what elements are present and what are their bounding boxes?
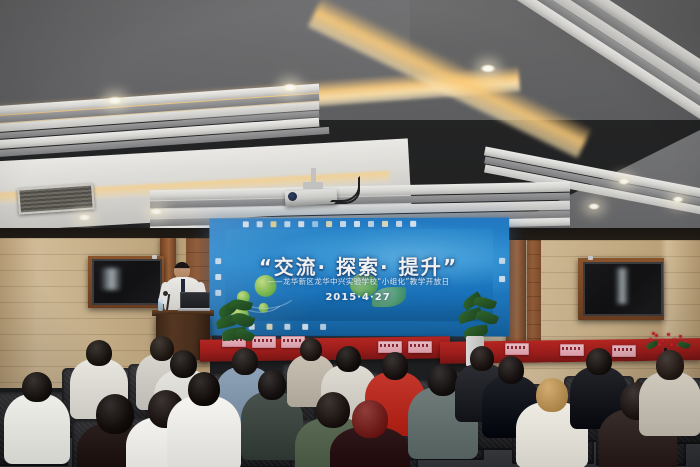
ceiling-downlight-4 (78, 214, 91, 221)
desktop-icon (382, 221, 388, 227)
right-tv-indicator-icon (588, 256, 593, 260)
desktop-icon (499, 276, 505, 282)
water-bottle (158, 298, 163, 311)
desktop-icon (284, 324, 290, 330)
audience-member-head (258, 370, 286, 400)
desktop-icon (215, 258, 221, 264)
audience-member-head (86, 340, 112, 366)
audience-member-torso (4, 394, 70, 464)
audience-member-head (96, 394, 134, 434)
audience-member-head (586, 348, 612, 375)
ceiling-downlight-5 (150, 208, 163, 215)
projector-mount-plate (303, 182, 323, 189)
audience-member-head (336, 346, 361, 372)
microphone-head-icon (163, 291, 168, 296)
flower (661, 339, 664, 342)
name-placard (408, 341, 432, 353)
desktop-icon (326, 221, 332, 227)
left-tv-glare (100, 268, 122, 290)
desktop-icon (368, 221, 374, 227)
flower-arrangement (646, 330, 690, 350)
desktop-icon (320, 324, 326, 330)
audience-member-head (170, 350, 197, 378)
audience-member-head (656, 350, 684, 380)
audience-member-head (428, 364, 458, 396)
desktop-icon (257, 221, 263, 227)
desktop-icon (298, 221, 304, 227)
audience-member-head (536, 378, 568, 412)
potted-plant-left (214, 300, 256, 348)
right-tv-glare (615, 268, 629, 304)
desktop-icon (499, 258, 505, 264)
wall-right-dark-strip (527, 240, 541, 346)
desktop-icon (410, 221, 416, 227)
desktop-icon (267, 324, 273, 330)
left-tv-indicator-icon (152, 255, 157, 259)
audience-member-head (316, 392, 350, 428)
podium-laptop-base (178, 308, 210, 311)
desktop-icon (340, 221, 346, 227)
flower (670, 343, 673, 346)
flower (667, 333, 670, 336)
ceiling-downlight-2 (282, 83, 298, 92)
flower-leaf (677, 340, 690, 350)
name-placard (612, 345, 636, 357)
audience-member-head (498, 356, 524, 384)
ceiling-downlight-7 (588, 203, 600, 210)
ceiling-downlight-3 (480, 64, 496, 73)
projector-lens (288, 192, 297, 201)
flower (649, 338, 652, 341)
audience-member-head (232, 348, 258, 375)
audience-member-head (352, 400, 388, 438)
flower-leaf (645, 340, 658, 350)
ceiling-downlight-1 (107, 96, 123, 105)
slide-subtitle: ——龙华新区龙华中兴实验学校“小组化”教学开放日 (225, 276, 493, 287)
audience-member-head (188, 372, 220, 406)
flower (655, 334, 658, 337)
name-placard (560, 344, 584, 356)
ceiling-ac-vent (17, 183, 95, 214)
flower (658, 343, 661, 346)
audience-member-head (382, 352, 408, 380)
flower (673, 338, 676, 341)
ceiling-downlight-8 (672, 196, 684, 203)
name-placard (505, 343, 529, 355)
presentation-slide: “交流· 探索· 提升” ——龙华新区龙华中兴实验学校“小组化”教学开放日 20… (225, 229, 493, 322)
audience-member-head (22, 372, 52, 402)
audience-member-torso (167, 396, 241, 467)
audience-member-head (470, 346, 494, 371)
flower (679, 335, 682, 338)
desktop-icon (215, 274, 221, 280)
desktop-icon (312, 221, 318, 227)
flower (652, 332, 655, 335)
desktop-icon (284, 221, 290, 227)
desktop-icon (215, 290, 221, 296)
name-placard (378, 341, 402, 353)
desktop-icon (302, 324, 308, 330)
desktop-icon (354, 221, 360, 227)
desktop-icon (243, 221, 249, 227)
audience-member-torso (639, 372, 700, 436)
desktop-icon (271, 221, 277, 227)
conference-room-photo: “交流· 探索· 提升” ——龙华新区龙华中兴实验学校“小组化”教学开放日 20… (0, 0, 700, 467)
ceiling-downlight-6 (618, 178, 630, 185)
audience-member-head (300, 338, 322, 361)
plant-leaf (235, 326, 256, 344)
slide-date: 2015·4·27 (225, 292, 493, 303)
desktop-icon (396, 221, 402, 227)
